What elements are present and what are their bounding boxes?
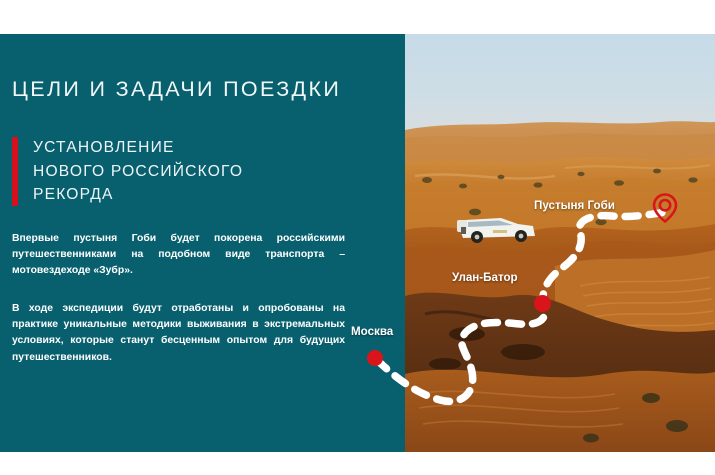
map-pin-gobi-icon <box>652 192 678 224</box>
subtitle-line-2: НОВОГО РОССИЙСКОГО <box>33 160 393 184</box>
body-paragraph-2: В ходе экспедиции будут отработаны и опр… <box>12 301 345 366</box>
red-accent-bar <box>12 137 18 206</box>
body-paragraph-1: Впервые пустыня Гоби будет покорена росс… <box>12 231 345 280</box>
map-label-gobi-desert: Пустыня Гоби <box>534 199 615 212</box>
map-label-moscow: Москва <box>351 325 393 338</box>
map-marker-moscow <box>367 350 383 366</box>
presentation-slide: ЦЕЛИ И ЗАДАЧИ ПОЕЗДКИ УСТАНОВЛЕНИЕ НОВОГ… <box>0 0 715 475</box>
subtitle-line-3: РЕКОРДА <box>33 183 393 207</box>
map-label-ulan-bator: Улан-Батор <box>452 271 518 284</box>
map-marker-ulan-bator <box>534 295 551 312</box>
slide-subtitle: УСТАНОВЛЕНИЕ НОВОГО РОССИЙСКОГО РЕКОРДА <box>33 136 393 207</box>
desert-photo-graphic <box>405 34 715 452</box>
desert-photo <box>405 34 715 452</box>
subtitle-line-1: УСТАНОВЛЕНИЕ <box>33 136 393 160</box>
page-title: ЦЕЛИ И ЗАДАЧИ ПОЕЗДКИ <box>12 77 402 102</box>
